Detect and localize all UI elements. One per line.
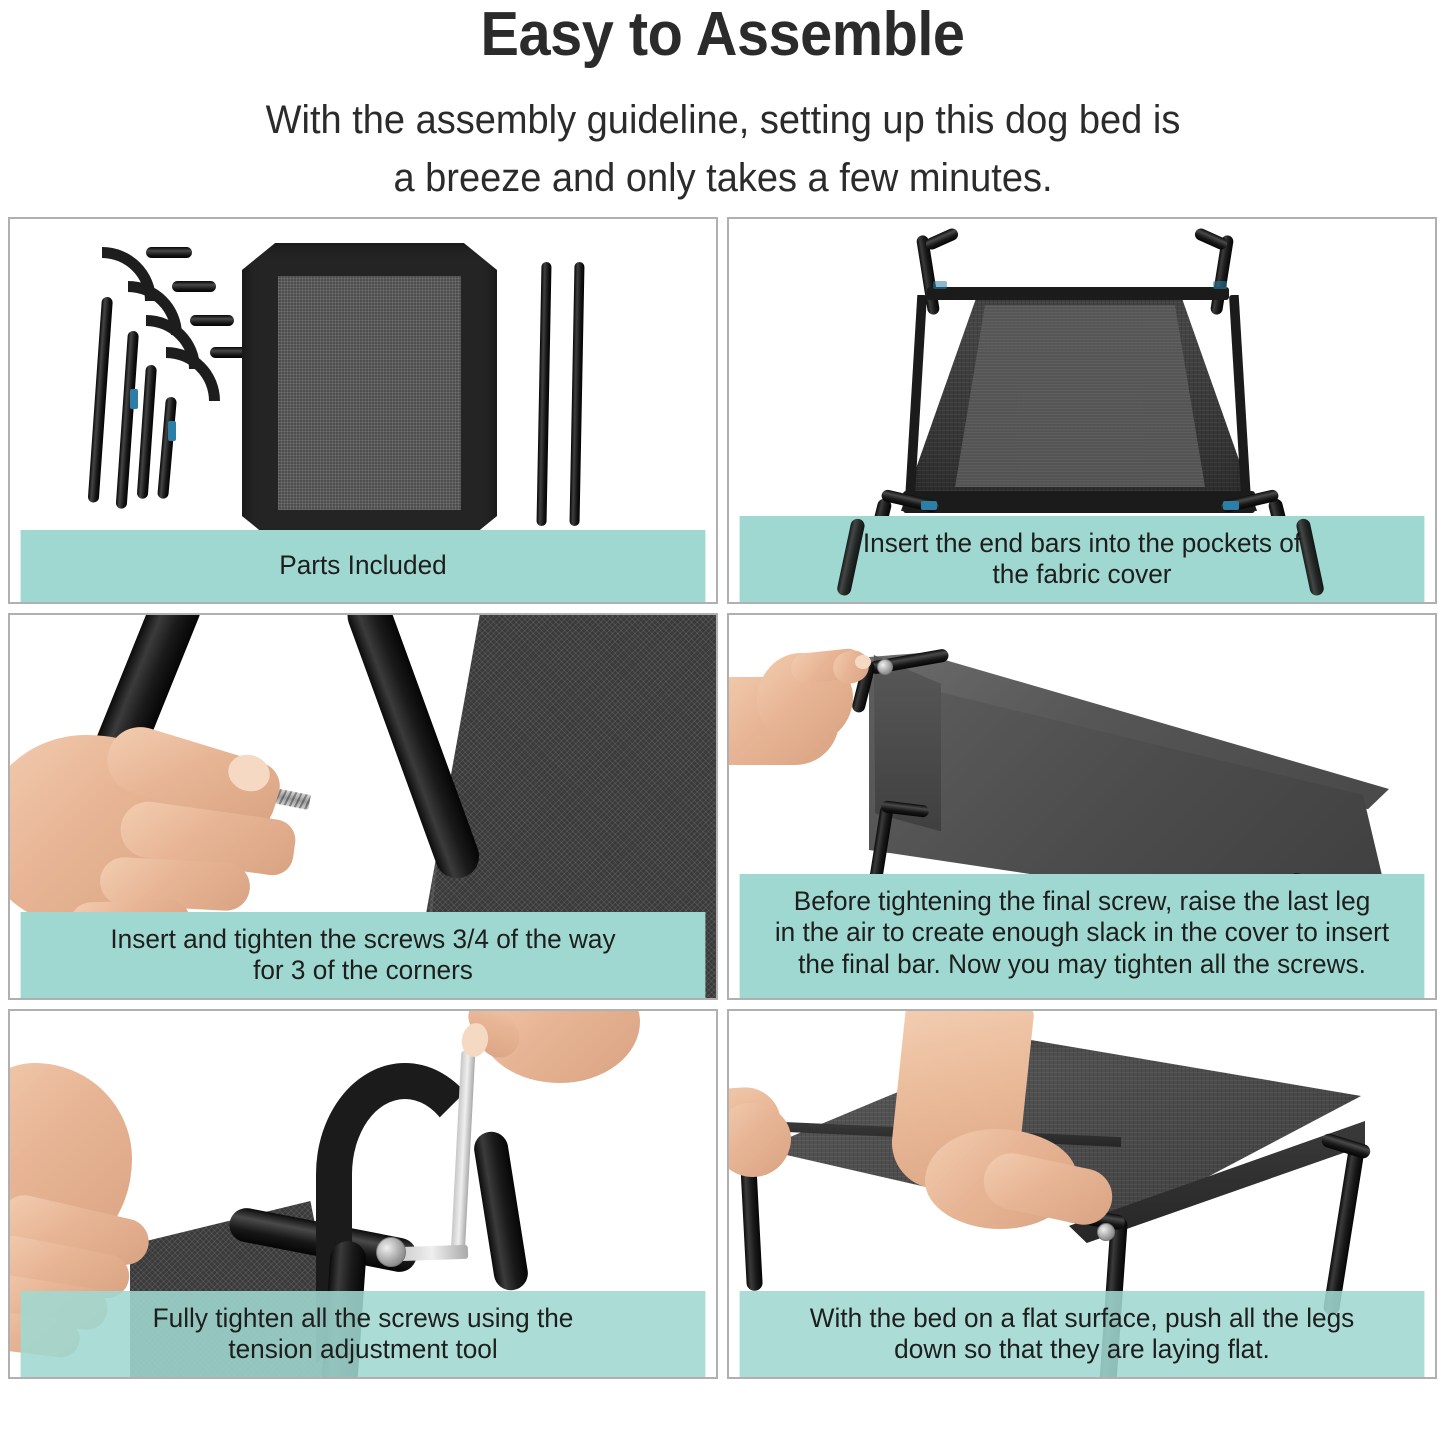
finger-left-nail: [855, 655, 871, 669]
panel-tension-tool: Fully tighten all the screws using the t…: [8, 1009, 718, 1379]
hem-bottom: [903, 491, 1255, 513]
straight-end-bar-2: [569, 262, 584, 526]
caption-panel-5: Fully tighten all the screws using the t…: [21, 1291, 706, 1377]
screw-bolt-head: [376, 1237, 406, 1267]
caption-line: Insert and tighten the screws 3/4 of the…: [32, 924, 694, 955]
pivot-bolt-left: [877, 659, 893, 675]
panel-tighten-screws: Insert and tighten the screws 3/4 of the…: [8, 613, 718, 1000]
caption-line: in the air to create enough slack in the…: [751, 917, 1413, 948]
caption-line: for 3 of the corners: [32, 955, 694, 986]
caption-panel-6: With the bed on a flat surface, push all…: [740, 1291, 1425, 1377]
fabric-mesh-inner: [955, 305, 1205, 487]
rear-foot-right: [1193, 227, 1229, 252]
subtitle-line-1: With the assembly guideline, setting up …: [176, 91, 1269, 149]
corner-bolt: [1097, 1223, 1115, 1241]
subtitle-line-2: a breeze and only takes a few minutes.: [176, 149, 1269, 207]
caption-panel-1: Parts Included: [21, 530, 706, 602]
fabric-cover: [242, 243, 497, 543]
caption-line: Before tightening the final screw, raise…: [751, 886, 1413, 917]
blue-sticker-leg-2: [130, 389, 138, 409]
caption-line: Fully tighten all the screws using the: [32, 1303, 694, 1334]
caption-panel-3: Insert and tighten the screws 3/4 of the…: [21, 912, 706, 998]
hem-top: [927, 287, 1229, 300]
blue-sticker-leg-4: [168, 421, 176, 441]
cover-mesh-panel: [278, 276, 462, 510]
caption-line: the final bar. Now you may tighten all t…: [751, 949, 1413, 980]
panel-parts-included: Parts Included: [8, 217, 718, 604]
page-subtitle: With the assembly guideline, setting up …: [176, 91, 1269, 207]
caption-line: Parts Included: [32, 550, 694, 581]
blue-sticker-front-left: [921, 501, 937, 510]
allen-wrench-short-arm: [396, 1245, 468, 1262]
panel-insert-end-bars: Insert the end bars into the pockets of …: [727, 217, 1437, 604]
curved-leg-4: [166, 347, 252, 497]
caption-line: down so that they are laying flat.: [751, 1334, 1413, 1365]
straight-end-bar-1: [536, 262, 551, 526]
blue-sticker-rear-right: [1213, 281, 1227, 289]
caption-line: tension adjustment tool: [32, 1334, 694, 1365]
caption-line: With the bed on a flat surface, push all…: [751, 1303, 1413, 1334]
rear-foot-left: [924, 227, 960, 252]
page-title: Easy to Assemble: [51, 2, 1395, 69]
blue-sticker-rear-left: [933, 281, 947, 289]
header: Easy to Assemble With the assembly guide…: [0, 0, 1445, 207]
hand-gripping-palm: [729, 1103, 791, 1177]
panel-raise-last-leg: Before tightening the final screw, raise…: [727, 613, 1437, 1000]
panel-flatten-legs: With the bed on a flat surface, push all…: [727, 1009, 1437, 1379]
caption-panel-4: Before tightening the final screw, raise…: [740, 874, 1425, 998]
steps-grid: Parts Included: [8, 207, 1437, 1379]
blue-sticker-front-right: [1223, 501, 1239, 510]
